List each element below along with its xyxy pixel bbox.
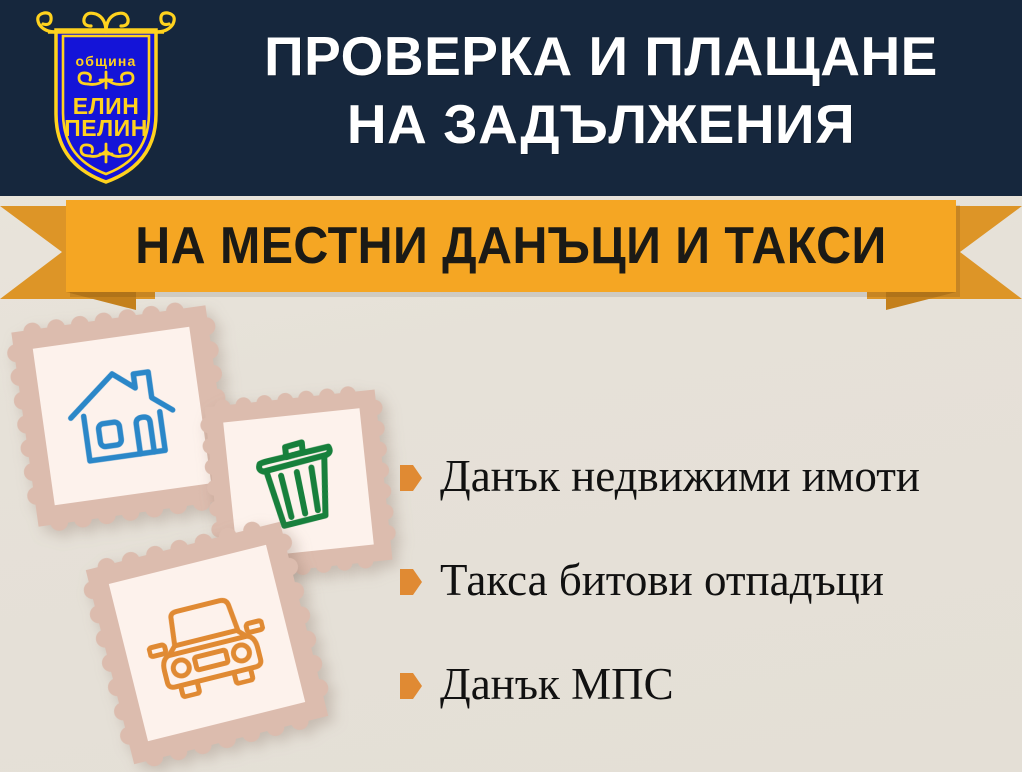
stamp-card-face bbox=[33, 327, 211, 505]
list-item-label: Такса битови отпадъци bbox=[440, 557, 884, 604]
list-item-label: Данък недвижими имоти bbox=[440, 453, 920, 500]
trash-bin-icon bbox=[248, 431, 350, 536]
ribbon-banner: НА МЕСТНИ ДАНЪЦИ И ТАКСИ bbox=[0, 196, 1022, 306]
municipality-logo: община ЕЛИН ПЕЛИН bbox=[26, 6, 186, 188]
house-icon bbox=[59, 357, 184, 476]
arrow-bullet-icon bbox=[400, 569, 422, 595]
ribbon-main-panel: НА МЕСТНИ ДАНЪЦИ И ТАКСИ bbox=[66, 200, 956, 292]
page-title-line1: ПРОВЕРКА И ПЛАЩАНЕ bbox=[264, 25, 938, 87]
stamp-card-vehicle-tax bbox=[86, 522, 328, 764]
list-item-label: Данък МПС bbox=[440, 661, 674, 708]
logo-name-line2: ПЕЛИН bbox=[64, 115, 148, 141]
tax-type-list: Данък недвижими имоти Такса битови отпад… bbox=[400, 425, 1010, 737]
page-title: ПРОВЕРКА И ПЛАЩАНЕ НА ЗАДЪЛЖЕНИЯ bbox=[195, 22, 1007, 158]
page-title-line2: НА ЗАДЪЛЖЕНИЯ bbox=[195, 90, 1007, 158]
logo-top-text: община bbox=[75, 53, 136, 69]
list-item[interactable]: Данък МПС bbox=[400, 633, 1010, 737]
list-item[interactable]: Такса битови отпадъци bbox=[400, 529, 1010, 633]
stamp-card-property-tax bbox=[11, 305, 232, 526]
car-icon bbox=[137, 581, 277, 705]
arrow-bullet-icon bbox=[400, 673, 422, 699]
list-item[interactable]: Данък недвижими имоти bbox=[400, 425, 1010, 529]
poster-canvas: община ЕЛИН ПЕЛИН ПРОВЕРКА И ПЛАЩ bbox=[0, 0, 1022, 772]
ribbon-subtitle: НА МЕСТНИ ДАНЪЦИ И ТАКСИ bbox=[135, 220, 886, 272]
stamp-card-face bbox=[109, 545, 305, 741]
arrow-bullet-icon bbox=[400, 465, 422, 491]
